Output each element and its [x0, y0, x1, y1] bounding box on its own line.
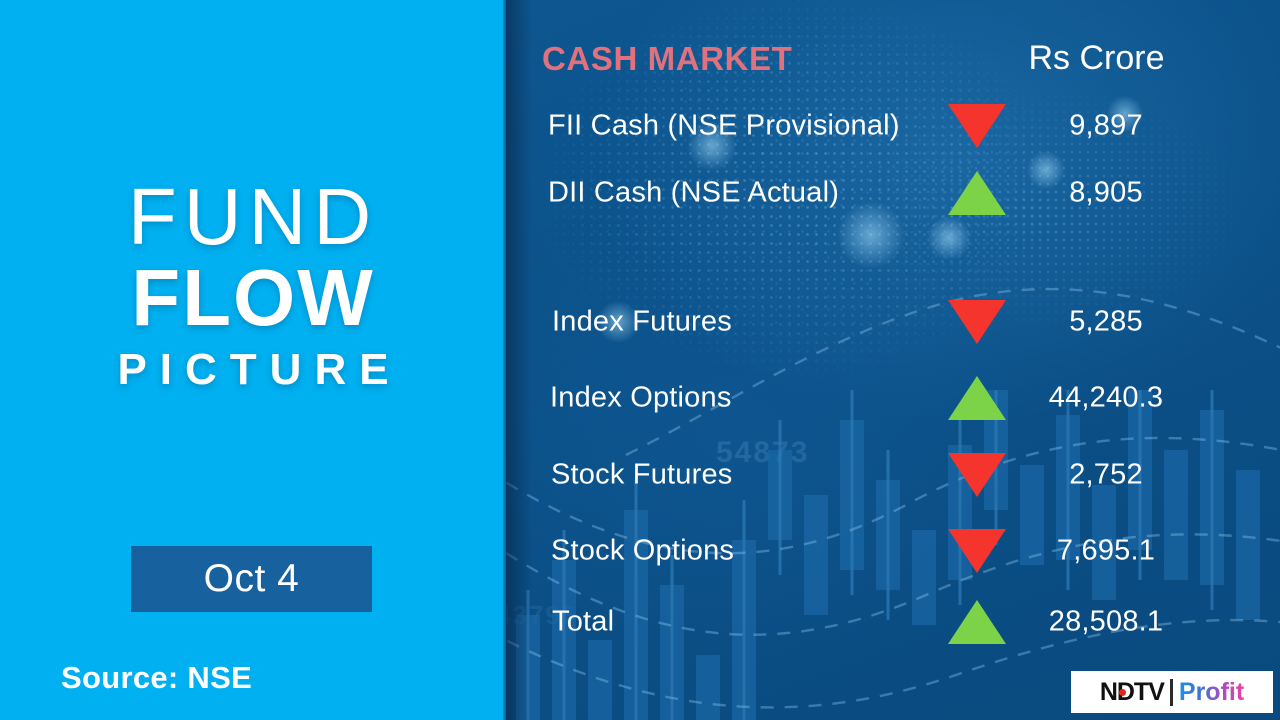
table-row: Index Futures5,285 — [506, 299, 1280, 345]
triangle-up-glyph — [948, 171, 1006, 215]
profit-wordmark: Profit — [1179, 680, 1244, 705]
left-branding-panel: FUND FLOW PICTURE Oct 4 Source: NSE — [0, 0, 506, 720]
arrow-down-icon — [946, 101, 1008, 151]
triangle-up-glyph — [948, 376, 1006, 420]
arrow-down-icon — [946, 297, 1008, 347]
screenshot-stage: FUND FLOW PICTURE Oct 4 Source: NSE 5487… — [0, 0, 1280, 720]
row-value: 28,508.1 — [1016, 606, 1196, 639]
row-label: Stock Options — [551, 535, 734, 568]
date-badge: Oct 4 — [131, 546, 372, 612]
triangle-down-glyph — [948, 104, 1006, 148]
row-label: Index Futures — [552, 306, 732, 339]
ndtv-wordmark-text: NDTV — [1100, 678, 1164, 706]
row-label: DII Cash (NSE Actual) — [548, 177, 839, 210]
row-label: Stock Futures — [551, 459, 733, 492]
cash-market-table: CASH MARKET Rs Crore FII Cash (NSE Provi… — [506, 0, 1280, 720]
table-row: Stock Options7,695.1 — [506, 528, 1280, 574]
title-line-fund: FUND — [0, 178, 506, 256]
row-label: Index Options — [550, 382, 732, 415]
row-value: 7,695.1 — [1016, 535, 1196, 568]
table-row: DII Cash (NSE Actual)8,905 — [506, 170, 1280, 216]
triangle-up-glyph — [948, 600, 1006, 644]
triangle-down-glyph — [948, 529, 1006, 573]
arrow-up-icon — [946, 597, 1008, 647]
title-line-flow: FLOW — [0, 258, 506, 338]
unit-label: Rs Crore — [506, 39, 1280, 78]
source-label: Source: NSE — [61, 660, 252, 696]
title-line-picture: PICTURE — [0, 346, 506, 394]
row-label: FII Cash (NSE Provisional) — [548, 110, 900, 143]
arrow-down-icon — [946, 450, 1008, 500]
arrow-down-icon — [946, 526, 1008, 576]
table-row: FII Cash (NSE Provisional)9,897 — [506, 103, 1280, 149]
row-value: 2,752 — [1016, 459, 1196, 492]
page-title: FUND FLOW PICTURE — [0, 178, 506, 395]
ndtv-wordmark: NDTV — [1100, 680, 1164, 705]
ndtv-red-dot-icon — [1119, 689, 1126, 696]
logo-divider — [1170, 679, 1173, 706]
triangle-down-glyph — [948, 453, 1006, 497]
row-value: 9,897 — [1016, 110, 1196, 143]
row-value: 5,285 — [1016, 306, 1196, 339]
row-label: Total — [552, 606, 614, 639]
arrow-up-icon — [946, 373, 1008, 423]
table-row: Stock Futures2,752 — [506, 452, 1280, 498]
date-badge-label: Oct 4 — [204, 557, 300, 601]
table-row: Total28,508.1 — [506, 599, 1280, 645]
triangle-down-glyph — [948, 300, 1006, 344]
ndtv-profit-logo: NDTV Profit — [1071, 671, 1273, 713]
row-value: 8,905 — [1016, 177, 1196, 210]
row-value: 44,240.3 — [1016, 382, 1196, 415]
table-row: Index Options44,240.3 — [506, 375, 1280, 421]
arrow-up-icon — [946, 168, 1008, 218]
